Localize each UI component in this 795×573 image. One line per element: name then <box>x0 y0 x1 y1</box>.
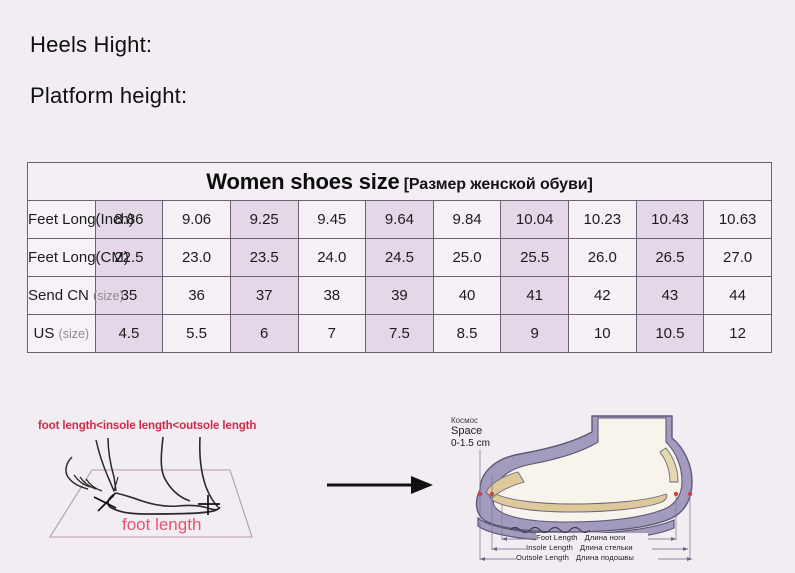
cell-cm-5: 24.5 <box>366 239 434 277</box>
insole-length-en: Insole Length <box>526 543 573 552</box>
size-table-container: Women shoes size [Размер женской обуви] … <box>27 162 772 353</box>
shoe-cross-section-diagram: Космос Space 0-1.5 cm <box>440 408 780 568</box>
cell-cm-6: 25.0 <box>433 239 501 277</box>
insole-length-ru: Длина стельки <box>580 543 633 552</box>
foot-top-outline <box>116 493 219 510</box>
cell-us-10: 12 <box>704 315 772 353</box>
heels-height-label: Heels Hight: <box>30 34 530 56</box>
cell-us-2: 5.5 <box>163 315 231 353</box>
table-row: US (size) 4.5 5.5 6 7 7.5 8.5 9 10 10.5 … <box>28 315 772 353</box>
cell-inch-6: 9.84 <box>433 201 501 239</box>
cell-inch-10: 10.63 <box>704 201 772 239</box>
cell-cm-7: 25.5 <box>501 239 569 277</box>
cell-cn-4: 38 <box>298 277 366 315</box>
right-arrow-icon <box>325 472 435 498</box>
cell-cm-9: 26.5 <box>636 239 704 277</box>
cell-cn-7: 41 <box>501 277 569 315</box>
table-row: Feet Long(Inch) 8.86 9.06 9.25 9.45 9.64… <box>28 201 772 239</box>
foot-length-measure-label: Foot LengthДлина ноги <box>536 533 625 542</box>
cell-us-5: 7.5 <box>366 315 434 353</box>
row-label-text: Send CN <box>28 287 89 304</box>
table-title-main: Women shoes size <box>206 169 399 194</box>
foot-length-inequality-label: foot length<insole length<outsole length <box>38 420 256 432</box>
outsole-length-measure-label: Outsole LengthДлина подошвы <box>516 553 634 562</box>
cell-inch-2: 9.06 <box>163 201 231 239</box>
cell-inch-8: 10.23 <box>569 201 637 239</box>
pencil-tip <box>108 477 118 491</box>
table-title-sub: [Размер женской обуви] <box>404 176 593 193</box>
leg-front-outline <box>161 437 190 501</box>
outsole-length-arrow-left <box>480 557 485 561</box>
insole-length-arrow-right <box>683 547 688 551</box>
row-label-feet-inch: Feet Long(Inch) <box>28 201 96 239</box>
pencil-body-right <box>108 438 116 491</box>
insole-length-measure-label: Insole LengthДлина стельки <box>526 543 633 552</box>
cell-inch-7: 10.04 <box>501 201 569 239</box>
row-label-feet-cm: Feet Long(CM) <box>28 239 96 277</box>
cell-us-9: 10.5 <box>636 315 704 353</box>
row-label-send-cn: Send CN (size) <box>28 277 96 315</box>
table-title-row: Women shoes size [Размер женской обуви] <box>28 163 772 201</box>
cell-inch-4: 9.45 <box>298 201 366 239</box>
heading-block: Heels Hight: Platform height: <box>30 34 530 136</box>
space-value: 0-1.5 cm <box>451 438 490 450</box>
row-label-unit: (size) <box>59 327 90 341</box>
cell-us-6: 8.5 <box>433 315 501 353</box>
foot-length-label: foot length <box>122 515 201 535</box>
cell-cm-2: 23.0 <box>163 239 231 277</box>
cell-us-7: 9 <box>501 315 569 353</box>
table-row: Feet Long(CM) 22.5 23.0 23.5 24.0 24.5 2… <box>28 239 772 277</box>
cell-us-3: 6 <box>230 315 298 353</box>
foot-measure-illustration <box>30 415 330 565</box>
row-label-us: US (size) <box>28 315 96 353</box>
table-row: Send CN (size) 35 36 37 38 39 40 41 42 4… <box>28 277 772 315</box>
arrow-head <box>411 476 433 494</box>
foot-measuring-diagram: foot length<insole length<outsole length… <box>30 415 330 565</box>
space-annotation: Космос Space 0-1.5 cm <box>451 416 490 449</box>
cell-cn-6: 40 <box>433 277 501 315</box>
foot-length-arrow-left <box>502 537 507 541</box>
outsole-length-arrow-right <box>687 557 692 561</box>
cell-cn-2: 36 <box>163 277 231 315</box>
space-label-en: Space <box>451 425 490 438</box>
cell-cm-4: 24.0 <box>298 239 366 277</box>
insole-length-arrow-left <box>492 547 497 551</box>
foot-length-arrow-right <box>671 537 676 541</box>
cell-us-1: 4.5 <box>95 315 163 353</box>
cell-cm-3: 23.5 <box>230 239 298 277</box>
row-label-unit: (size) <box>93 289 124 303</box>
foot-length-en: Foot Length <box>536 533 578 542</box>
arrow-block <box>325 472 435 498</box>
cell-cn-8: 42 <box>569 277 637 315</box>
cell-inch-9: 10.43 <box>636 201 704 239</box>
cell-us-4: 7 <box>298 315 366 353</box>
leg-back-outline <box>200 437 218 507</box>
row-label-text: US <box>34 325 55 342</box>
cell-cm-10: 27.0 <box>704 239 772 277</box>
cell-cn-3: 37 <box>230 277 298 315</box>
outsole-length-en: Outsole Length <box>516 553 569 562</box>
cell-inch-5: 9.64 <box>366 201 434 239</box>
cell-cn-9: 43 <box>636 277 704 315</box>
foot-length-ru: Длина ноги <box>585 533 626 542</box>
cell-cn-10: 44 <box>704 277 772 315</box>
outsole-length-ru: Длина подошвы <box>576 553 634 562</box>
cell-us-8: 10 <box>569 315 637 353</box>
cell-cn-5: 39 <box>366 277 434 315</box>
platform-height-label: Platform height: <box>30 85 530 107</box>
cell-cm-8: 26.0 <box>569 239 637 277</box>
women-shoes-size-table: Women shoes size [Размер женской обуви] … <box>27 162 772 353</box>
size-chart-page: Heels Hight: Platform height: Women shoe… <box>0 0 795 571</box>
space-label-ru: Космос <box>451 416 490 425</box>
cell-inch-3: 9.25 <box>230 201 298 239</box>
table-title-cell: Women shoes size [Размер женской обуви] <box>28 163 772 201</box>
